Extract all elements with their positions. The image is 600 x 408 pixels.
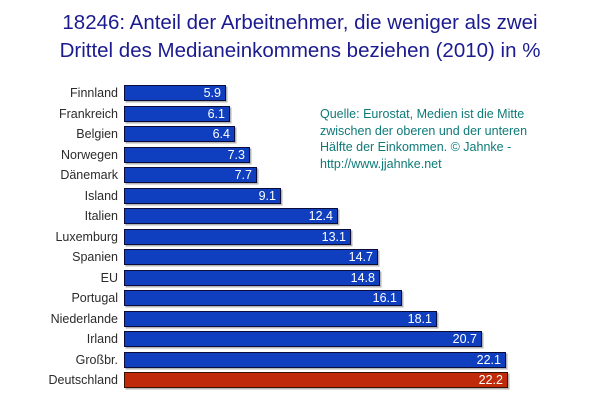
bar-value-label: 18.1 [408,312,432,326]
bar-row: Spanien14.7 [0,248,600,268]
bar-row: Luxemburg13.1 [0,228,600,248]
chart-title: 18246: Anteil der Arbeitnehmer, die weni… [0,9,600,65]
bar-row: Italien12.4 [0,207,600,227]
bar-row: Finnland5.9 [0,84,600,104]
bar-category-label: Frankreich [0,107,118,122]
bar-track: 9.1 [124,188,281,204]
bar[interactable]: 14.7 [124,249,378,265]
bar-value-label: 22.1 [477,353,501,367]
bar-track: 13.1 [124,229,351,245]
bar[interactable]: 20.7 [124,331,482,347]
bar-value-label: 20.7 [453,332,477,346]
bar-track: 22.2 [124,372,508,388]
bar-value-label: 16.1 [373,291,397,305]
bar-category-label: Italien [0,209,118,224]
bar-track: 5.9 [124,85,226,101]
bar-track: 16.1 [124,290,402,306]
bar-value-label: 7.3 [228,148,245,162]
bar-track: 7.7 [124,167,257,183]
bar-value-label: 6.1 [208,107,225,121]
bar-category-label: Belgien [0,127,118,142]
bar-track: 6.4 [124,126,235,142]
bar-category-label: Dänemark [0,168,118,183]
bar-row: EU14.8 [0,269,600,289]
bar-row: Irland20.7 [0,330,600,350]
bar-category-label: EU [0,271,118,286]
bar[interactable]: 16.1 [124,290,402,306]
bar-value-label: 22.2 [479,373,503,387]
source-annotation: Quelle: Eurostat, Medien ist die Mitte z… [320,106,588,172]
bar-track: 14.8 [124,270,380,286]
bar-value-label: 12.4 [309,209,333,223]
bar-value-label: 5.9 [204,86,221,100]
bar[interactable]: 6.4 [124,126,235,142]
bar-row: Niederlande18.1 [0,310,600,330]
bar-row: Island9.1 [0,187,600,207]
bar[interactable]: 13.1 [124,229,351,245]
bar-track: 12.4 [124,208,338,224]
bar[interactable]: 22.1 [124,352,506,368]
bar-category-label: Island [0,189,118,204]
bar-track: 22.1 [124,352,506,368]
bar-value-label: 6.4 [213,127,230,141]
bar-track: 20.7 [124,331,482,347]
bar[interactable]: 5.9 [124,85,226,101]
bar-value-label: 14.8 [351,271,375,285]
bar-track: 14.7 [124,249,378,265]
bar-chart: 18246: Anteil der Arbeitnehmer, die weni… [0,0,600,408]
bar-category-label: Luxemburg [0,230,118,245]
bar-category-label: Finnland [0,86,118,101]
bar[interactable]: 6.1 [124,106,230,122]
bar-row: Deutschland22.2 [0,371,600,391]
bar[interactable]: 7.3 [124,147,250,163]
bar-category-label: Deutschland [0,373,118,388]
bar-category-label: Irland [0,332,118,347]
bar-row: Großbr.22.1 [0,351,600,371]
bar-category-label: Norwegen [0,148,118,163]
bar-row: Portugal16.1 [0,289,600,309]
bar-highlight[interactable]: 22.2 [124,372,508,388]
bar[interactable]: 7.7 [124,167,257,183]
bar-category-label: Niederlande [0,312,118,327]
bar-category-label: Spanien [0,250,118,265]
bar[interactable]: 18.1 [124,311,437,327]
bar[interactable]: 12.4 [124,208,338,224]
bar-track: 6.1 [124,106,230,122]
bar-track: 18.1 [124,311,437,327]
bar-category-label: Großbr. [0,353,118,368]
bar[interactable]: 9.1 [124,188,281,204]
bar-category-label: Portugal [0,291,118,306]
bar-value-label: 14.7 [349,250,373,264]
bar-value-label: 13.1 [322,230,346,244]
bar[interactable]: 14.8 [124,270,380,286]
bar-value-label: 9.1 [259,189,276,203]
bar-value-label: 7.7 [235,168,252,182]
bar-track: 7.3 [124,147,250,163]
